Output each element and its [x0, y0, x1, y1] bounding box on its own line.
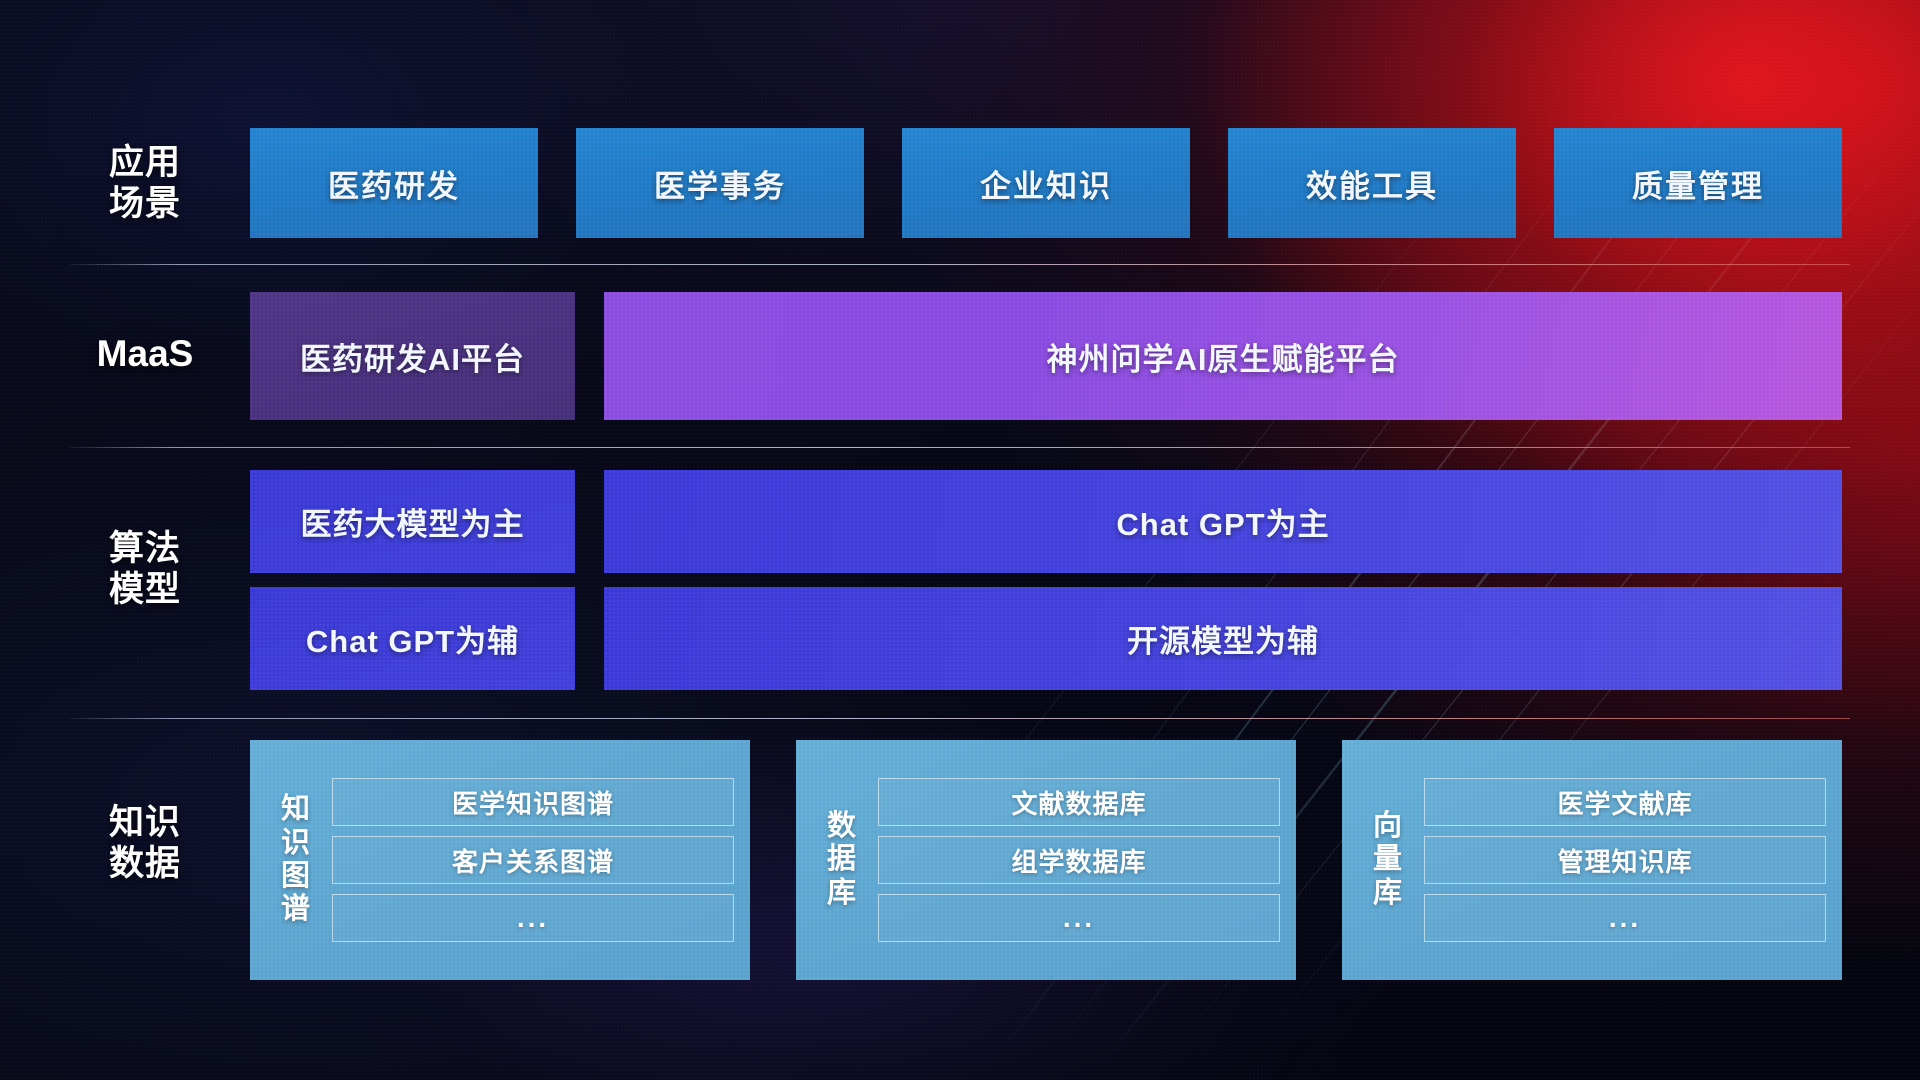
row-label-application-line2: 场景	[70, 183, 220, 224]
row-label-application: 应用 场景	[70, 142, 220, 225]
knowledge-card-graph[interactable]: 知识图谱 医学知识图谱 客户关系图谱 ...	[250, 740, 750, 980]
knowledge-item-graph-more[interactable]: ...	[332, 894, 734, 942]
maas-box-shenzhou-wenxue-platform[interactable]: 神州问学AI原生赋能平台	[604, 292, 1842, 420]
row-label-knowledge-line1: 知识	[70, 802, 220, 843]
row-label-knowledge-line2: 数据	[70, 843, 220, 884]
row-application-scenarios: 应用 场景 医药研发 医学事务 企业知识 效能工具 质量管理	[70, 128, 1920, 238]
divider-application-maas	[70, 264, 1850, 265]
divider-algorithm-knowledge	[70, 718, 1850, 719]
app-box-drug-rd[interactable]: 医药研发	[250, 128, 538, 238]
app-box-quality-management[interactable]: 质量管理	[1554, 128, 1842, 238]
row-algorithm-models: 算法 模型 医药大模型为主 Chat GPT为主 Chat GPT为辅 开源模型…	[70, 470, 1920, 690]
app-box-efficiency-tools[interactable]: 效能工具	[1228, 128, 1516, 238]
row-maas: MaaS 医药研发AI平台 神州问学AI原生赋能平台	[70, 292, 1920, 420]
knowledge-card-graph-items: 医学知识图谱 客户关系图谱 ...	[332, 778, 734, 942]
knowledge-item-literature-db[interactable]: 文献数据库	[878, 778, 1280, 826]
knowledge-item-medical-literature[interactable]: 医学文献库	[1424, 778, 1826, 826]
app-box-medical-affairs[interactable]: 医学事务	[576, 128, 864, 238]
knowledge-item-customer-graph[interactable]: 客户关系图谱	[332, 836, 734, 884]
algo-box-drug-llm-primary[interactable]: 医药大模型为主	[250, 470, 575, 573]
knowledge-card-database[interactable]: 数据库 文献数据库 组学数据库 ...	[796, 740, 1296, 980]
maas-box-drug-rd-ai-platform[interactable]: 医药研发AI平台	[250, 292, 575, 420]
knowledge-card-database-title: 数据库	[806, 810, 878, 910]
row-knowledge-data: 知识 数据 知识图谱 医学知识图谱 客户关系图谱 ... 数据库 文献数据库 组…	[70, 740, 1920, 980]
knowledge-card-graph-title: 知识图谱	[260, 793, 332, 926]
knowledge-card-vector-store-title: 向量库	[1352, 810, 1424, 910]
row-label-knowledge: 知识 数据	[70, 802, 220, 885]
algo-box-opensource-secondary[interactable]: 开源模型为辅	[604, 587, 1842, 690]
knowledge-item-database-more[interactable]: ...	[878, 894, 1280, 942]
row-label-algorithm: 算法 模型	[70, 528, 220, 611]
knowledge-card-vector-store-items: 医学文献库 管理知识库 ...	[1424, 778, 1826, 942]
knowledge-card-vector-store[interactable]: 向量库 医学文献库 管理知识库 ...	[1342, 740, 1842, 980]
algo-box-chatgpt-primary[interactable]: Chat GPT为主	[604, 470, 1842, 573]
row-label-algorithm-line2: 模型	[70, 569, 220, 610]
knowledge-item-medical-graph[interactable]: 医学知识图谱	[332, 778, 734, 826]
knowledge-card-database-items: 文献数据库 组学数据库 ...	[878, 778, 1280, 942]
row-label-application-line1: 应用	[70, 142, 220, 183]
row-label-maas: MaaS	[70, 332, 220, 376]
app-box-enterprise-knowledge[interactable]: 企业知识	[902, 128, 1190, 238]
knowledge-item-management-knowledge[interactable]: 管理知识库	[1424, 836, 1826, 884]
row-label-algorithm-line1: 算法	[70, 528, 220, 569]
knowledge-item-omics-db[interactable]: 组学数据库	[878, 836, 1280, 884]
divider-maas-algorithm	[70, 447, 1850, 448]
knowledge-item-vector-more[interactable]: ...	[1424, 894, 1826, 942]
algo-box-chatgpt-secondary[interactable]: Chat GPT为辅	[250, 587, 575, 690]
slide-canvas: 应用 场景 医药研发 医学事务 企业知识 效能工具 质量管理 MaaS 医药研发…	[0, 0, 1920, 1080]
architecture-diagram: 应用 场景 医药研发 医学事务 企业知识 效能工具 质量管理 MaaS 医药研发…	[0, 0, 1920, 1080]
